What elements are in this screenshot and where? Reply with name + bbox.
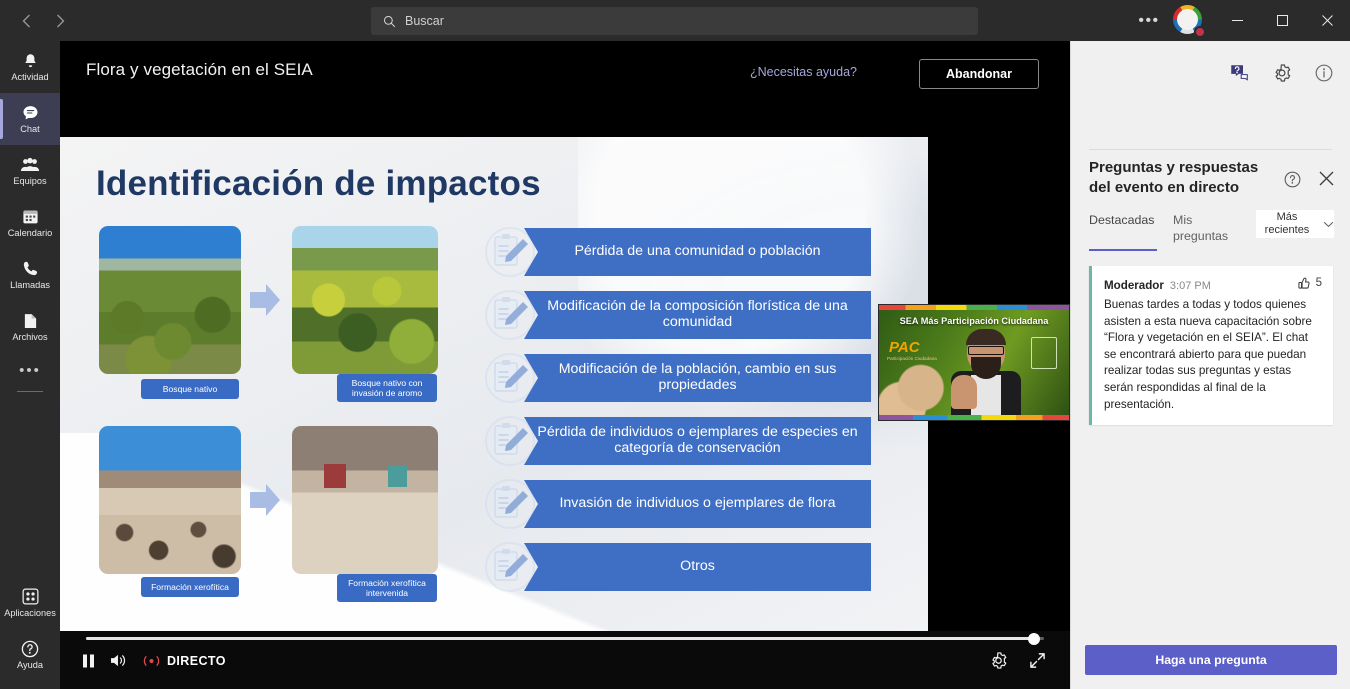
search-placeholder: Buscar: [405, 14, 444, 28]
fullscreen-icon[interactable]: [1029, 652, 1046, 669]
qna-panel: Preguntas y respuestas del evento en dir…: [1070, 41, 1350, 689]
rail-item-archivos[interactable]: Archivos: [0, 301, 60, 353]
search-input[interactable]: Buscar: [371, 7, 978, 35]
meeting-stage: Flora y vegetación en el SEIA ¿Necesitas…: [60, 41, 1070, 689]
photo-formacion-xerofitica: [99, 426, 241, 574]
live-broadcast-icon: [143, 655, 160, 667]
teams-live-event-window: Buscar ••• Actividad: [0, 0, 1350, 689]
photo-bosque-nativo-invadido: [292, 226, 438, 374]
apps-icon: [22, 587, 39, 606]
tab-destacadas[interactable]: Destacadas: [1089, 212, 1159, 251]
rail-item-equipos[interactable]: Equipos: [0, 145, 60, 197]
player-bar: DIRECTO: [60, 631, 1070, 689]
minimize-button[interactable]: [1215, 0, 1260, 41]
rail-item-llamadas[interactable]: Llamadas: [0, 249, 60, 301]
window-controls: •••: [1133, 0, 1350, 41]
player-left-controls: DIRECTO: [82, 653, 226, 668]
pac-logo: PAC: [889, 339, 920, 356]
close-icon[interactable]: [1319, 171, 1334, 186]
slide-heading: Identificación de impactos: [96, 164, 541, 204]
more-options-icon[interactable]: •••: [1133, 5, 1165, 37]
presenter-figure: [949, 331, 1023, 415]
chevron-down-icon: [1323, 221, 1334, 228]
chat-icon: [21, 103, 40, 122]
live-indicator: DIRECTO: [143, 654, 226, 668]
ask-question-button[interactable]: Haga una pregunta: [1085, 645, 1337, 675]
video-stripe-bottom: [879, 415, 1069, 420]
rail-label: Chat: [20, 125, 39, 134]
rail-label: Calendario: [8, 229, 52, 238]
question-card[interactable]: Moderador 3:07 PM 5 Buenas tardes a toda…: [1089, 266, 1333, 425]
rail-item-chat[interactable]: Chat: [0, 93, 60, 145]
page-title: Flora y vegetación en el SEIA: [86, 60, 313, 80]
close-button[interactable]: [1305, 0, 1350, 41]
pac-logo-subtitle: Participación Ciudadana: [887, 356, 937, 361]
rail-item-actividad[interactable]: Actividad: [0, 41, 60, 93]
player-right-controls: [990, 652, 1046, 669]
photo-formacion-xerofitica-intervenida: [292, 426, 438, 574]
arrow-right-icon: [248, 480, 282, 520]
status-badge: [1194, 26, 1206, 38]
gear-icon[interactable]: [990, 652, 1007, 669]
phone-icon: [22, 259, 39, 278]
help-circle-icon[interactable]: [1284, 171, 1301, 188]
stage-header: Flora y vegetación en el SEIA ¿Necesitas…: [60, 41, 1070, 100]
rail-divider: [17, 391, 43, 392]
impact-label: Modificación de la composición florístic…: [524, 291, 871, 339]
title-bar: Buscar •••: [0, 0, 1350, 41]
pause-icon[interactable]: [82, 654, 95, 668]
leave-button[interactable]: Abandonar: [919, 59, 1039, 89]
rail-item-aplicaciones[interactable]: Aplicaciones: [0, 577, 60, 629]
seek-handle[interactable]: [1028, 633, 1040, 645]
back-icon[interactable]: [12, 7, 40, 35]
rail-item-ayuda[interactable]: Ayuda: [0, 629, 60, 681]
thumbs-up-icon: [1298, 276, 1311, 289]
teams-icon: [20, 155, 40, 174]
rail-label: Aplicaciones: [4, 609, 56, 618]
photo-caption: Bosque nativo con invasión de aromo: [337, 374, 437, 402]
rail-label: Equipos: [13, 177, 46, 186]
forward-icon[interactable]: [46, 7, 74, 35]
rail-label: Llamadas: [10, 281, 50, 290]
impact-label: Pérdida de una comunidad o población: [524, 228, 871, 276]
like-count: 5: [1316, 277, 1322, 289]
photo-caption: Formación xerofítica intervenida: [337, 574, 437, 602]
nav-arrows: [12, 7, 74, 35]
panel-title: Preguntas y respuestas del evento en dir…: [1089, 158, 1269, 197]
photo-caption: Bosque nativo: [141, 379, 239, 399]
shared-slide: Identificación de impactos Bosque nativo…: [60, 137, 928, 633]
seek-slider[interactable]: [86, 637, 1044, 640]
arrow-right-icon: [248, 280, 282, 320]
tab-label: Destacadas: [1089, 213, 1154, 227]
panel-tabs: Destacadas Mis preguntas: [1089, 212, 1243, 251]
seek-fill: [86, 637, 1034, 640]
rail-label: Actividad: [11, 73, 48, 82]
gear-icon[interactable]: [1273, 64, 1291, 82]
sort-dropdown[interactable]: Más recientes: [1255, 209, 1335, 239]
presenter-video-tile[interactable]: PAC Participación Ciudadana SEA Más Part…: [878, 304, 1070, 421]
question-author: Moderador: [1104, 279, 1164, 292]
maximize-button[interactable]: [1260, 0, 1305, 41]
impact-label: Pérdida de individuos o ejemplares de es…: [524, 417, 871, 465]
info-icon[interactable]: [1315, 64, 1333, 82]
video-stripe-top: [879, 305, 1069, 310]
bell-icon: [22, 51, 39, 70]
video-badge-icon: [1031, 337, 1057, 369]
qna-icon[interactable]: [1230, 64, 1249, 82]
calendar-icon: [22, 207, 39, 226]
question-time: 3:07 PM: [1170, 280, 1211, 292]
app-rail: Actividad Chat Equipos: [0, 41, 60, 689]
impact-label: Otros: [524, 543, 871, 591]
panel-divider: [1089, 149, 1332, 150]
volume-icon[interactable]: [110, 653, 128, 668]
sort-value: Más recientes: [1256, 211, 1318, 236]
search-icon: [383, 15, 396, 28]
avatar[interactable]: [1173, 5, 1205, 37]
file-icon: [23, 311, 38, 330]
need-help-link[interactable]: ¿Necesitas ayuda?: [750, 65, 857, 79]
rail-bottom: Aplicaciones Ayuda: [0, 577, 60, 681]
tab-label: Mis preguntas: [1173, 213, 1228, 243]
question-header: Moderador 3:07 PM 5: [1104, 276, 1322, 292]
live-label: DIRECTO: [167, 654, 226, 668]
rail-item-calendario[interactable]: Calendario: [0, 197, 60, 249]
impact-label: Modificación de la población, cambio en …: [524, 354, 871, 402]
panel-top-icons: [1230, 64, 1333, 82]
question-body: Buenas tardes a todas y todos quienes as…: [1104, 297, 1322, 413]
like-counter[interactable]: 5: [1298, 276, 1322, 289]
video-overlay-caption: SEA Más Participación Ciudadana: [879, 316, 1069, 326]
help-icon: [21, 639, 39, 658]
photo-caption: Formación xerofítica: [141, 577, 239, 597]
rail-label: Archivos: [12, 333, 47, 342]
impact-label: Invasión de individuos o ejemplares de f…: [524, 480, 871, 528]
rail-more-icon[interactable]: •••: [0, 359, 60, 381]
rail-label: Ayuda: [17, 661, 43, 670]
tab-mis-preguntas[interactable]: Mis preguntas: [1173, 212, 1243, 251]
photo-bosque-nativo: [99, 226, 241, 374]
